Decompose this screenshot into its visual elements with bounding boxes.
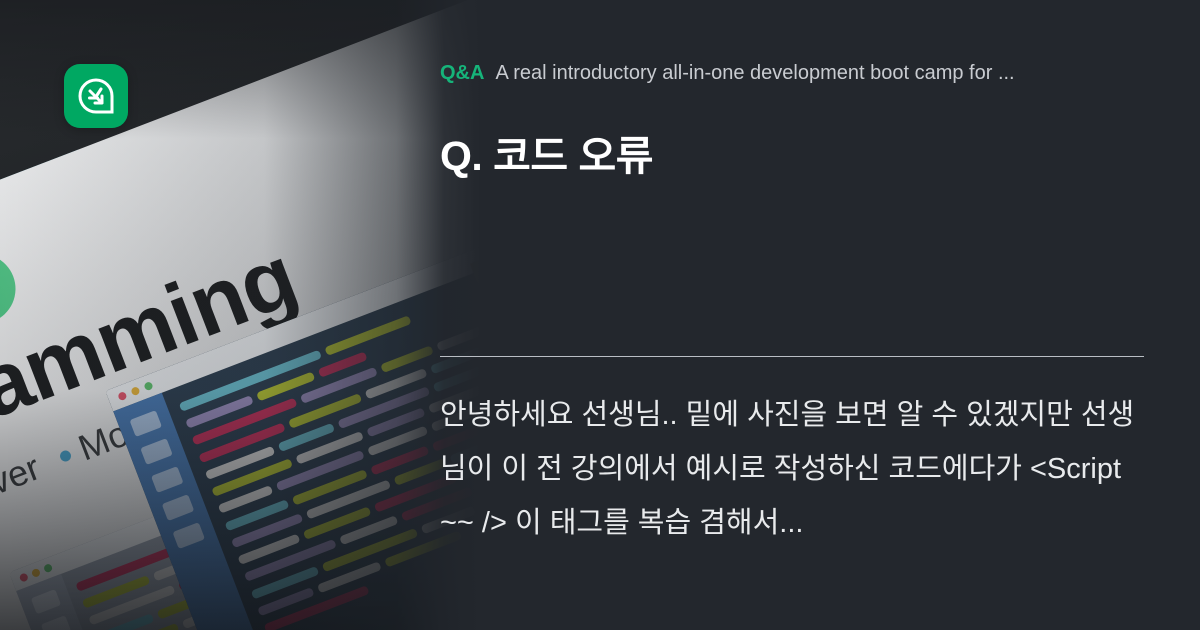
question-content: Q&A A real introductory all-in-one devel… (440, 0, 1200, 630)
inflearn-leaf-logo-icon (76, 76, 116, 116)
og-share-card: ALL-IN-ONE Programming Web Server Mobile… (0, 0, 1200, 630)
course-title: A real introductory all-in-one developme… (495, 62, 1014, 85)
qa-badge: Q&A (440, 62, 484, 85)
course-breadcrumb[interactable]: Q&A A real introductory all-in-one devel… (440, 62, 1152, 85)
question-body: 안녕하세요 선생님.. 밑에 사진을 보면 알 수 있겠지만 선생님이 이 전 … (440, 388, 1140, 550)
question-title: Q. 코드 오류 (440, 122, 1152, 182)
content-divider (440, 356, 1144, 357)
inflearn-logo (64, 64, 128, 128)
